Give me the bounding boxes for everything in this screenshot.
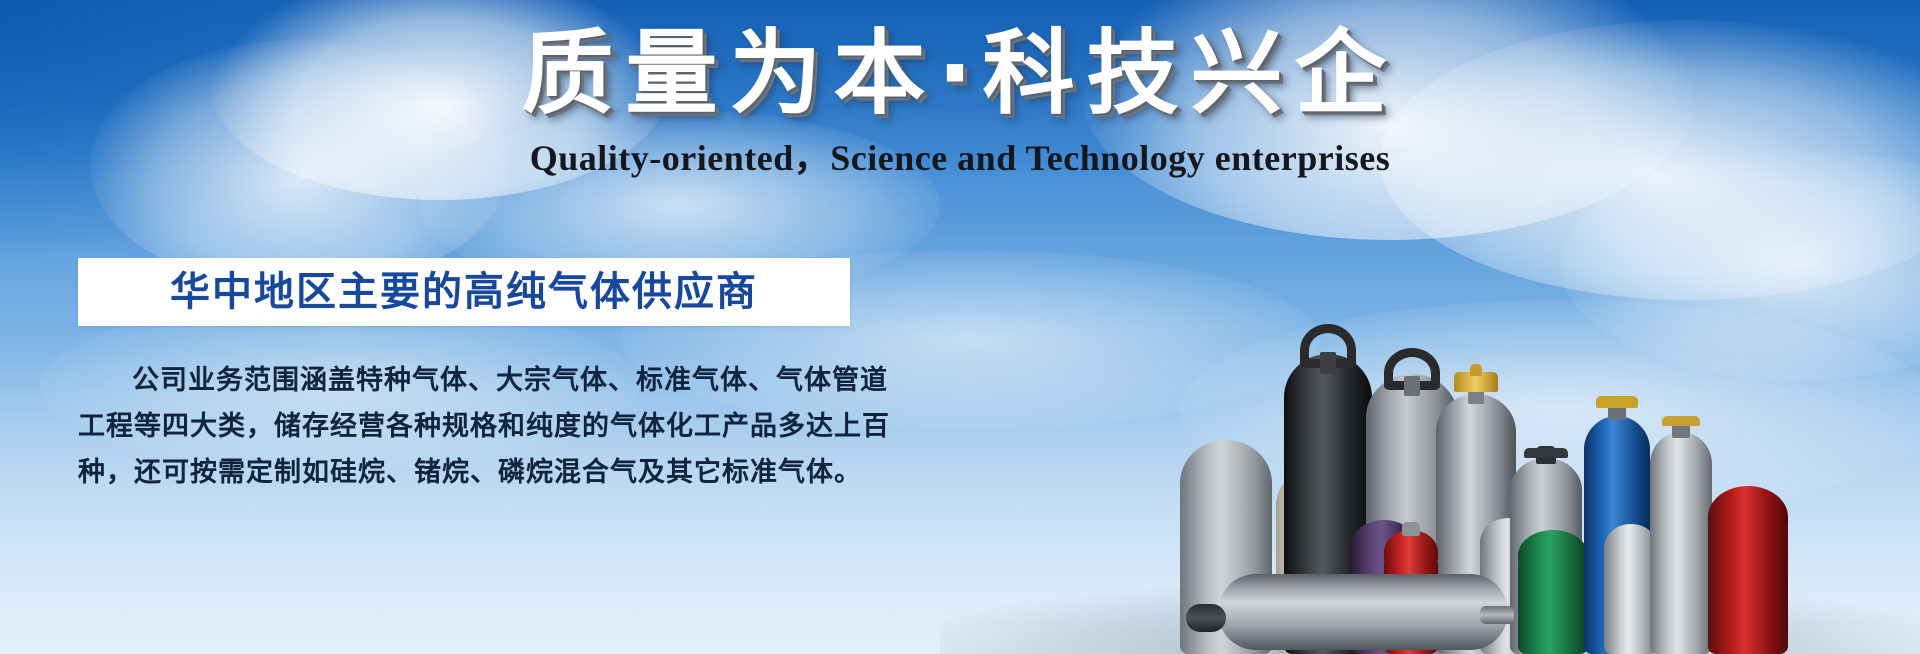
- tagline-banner: 华中地区主要的高纯气体供应商: [78, 258, 850, 326]
- cylinder-grey-lying: [1218, 574, 1508, 650]
- headline-separator: ·: [938, 20, 983, 127]
- gas-cylinder-group: [1180, 234, 1920, 654]
- paragraph-line: 工程等四大类，储存经营各种规格和纯度的气体化工产品多达上百: [78, 404, 868, 450]
- headline-part-2: 科技兴企: [982, 20, 1398, 127]
- page-subtitle: Quality-oriented，Science and Technology …: [0, 136, 1920, 180]
- cylinder-green-bottom: [1518, 530, 1588, 654]
- tagline-text: 华中地区主要的高纯气体供应商: [170, 268, 758, 316]
- cylinder-valve: [1402, 522, 1420, 536]
- paragraph-line: 种，还可按需定制如硅烷、锗烷、磷烷混合气及其它标准气体。: [78, 450, 868, 496]
- cylinder-lying-neck: [1480, 606, 1514, 624]
- headline-part-1: 质量为本: [522, 20, 938, 127]
- cylinder-silver-tall: [1650, 410, 1712, 654]
- cylinder-red-large-right: [1708, 482, 1788, 654]
- paragraph-line: 公司业务范围涵盖特种气体、大宗气体、标准气体、气体管道: [78, 358, 868, 404]
- promotional-banner: 质量为本·科技兴企 Quality-oriented，Science and T…: [0, 0, 1920, 654]
- cylinder-lying-valve: [1186, 604, 1226, 632]
- description-paragraph: 公司业务范围涵盖特种气体、大宗气体、标准气体、气体管道 工程等四大类，储存经营各…: [78, 358, 868, 496]
- page-title: 质量为本·科技兴企: [0, 18, 1920, 130]
